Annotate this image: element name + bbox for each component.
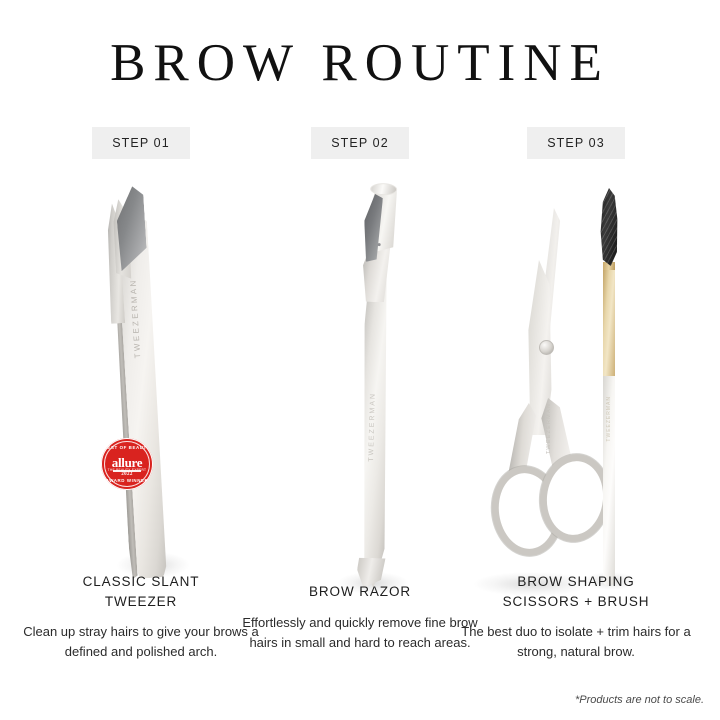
product-title-1-line1: CLASSIC SLANT <box>21 572 261 592</box>
allure-year-text: 2022 <box>101 472 153 477</box>
spoolie-brand-engraving: TWEEZERMAN <box>606 396 612 442</box>
step-column-2: STEP 02 TWEEZERMAN BROW RAZOR <box>240 120 480 690</box>
product-title-3-line1: BROW SHAPING <box>456 572 696 592</box>
scissors-brand-engraving: TWEEZERMAN <box>546 403 552 454</box>
spoolie-wood-shaft <box>603 266 615 376</box>
product-title-1: CLASSIC SLANT TWEEZER <box>21 572 261 611</box>
razor-illustration: TWEEZERMAN <box>333 179 414 591</box>
product-title-2: BROW RAZOR <box>240 582 480 602</box>
product-image-tweezer: TWEEZERMAN BEST OF BEAUTY allure THE BEA… <box>21 180 261 600</box>
product-caption-2: BROW RAZOR Effortlessly and quickly remo… <box>240 582 480 653</box>
allure-bottom-arc-text: AWARD WINNER <box>101 478 153 483</box>
step-badge-1: STEP 01 <box>92 127 190 159</box>
product-description-3: The best duo to isolate + trim hairs for… <box>456 622 696 662</box>
step-badge-2: STEP 02 <box>311 127 409 159</box>
step-badge-3: STEP 03 <box>527 127 625 159</box>
step-column-1: STEP 01 TWEEZERMAN BEST OF BEAUTY allure <box>21 120 261 690</box>
step-column-3: STEP 03 TWEEZERMAN <box>456 120 696 690</box>
razor-cap <box>370 183 397 196</box>
allure-top-arc-text: BEST OF BEAUTY <box>101 445 153 450</box>
product-image-razor: TWEEZERMAN <box>240 180 480 600</box>
allure-award-badge: BEST OF BEAUTY allure THE BEAUTY EXPERT … <box>101 438 153 490</box>
disclaimer-footnote: *Products are not to scale. <box>575 694 704 706</box>
product-description-1: Clean up stray hairs to give your brows … <box>21 622 261 662</box>
product-caption-1: CLASSIC SLANT TWEEZER Clean up stray hai… <box>21 572 261 662</box>
product-description-2: Effortlessly and quickly remove fine bro… <box>240 613 480 653</box>
product-caption-3: BROW SHAPING SCISSORS + BRUSH The best d… <box>456 572 696 662</box>
spoolie-bristle-texture <box>598 188 620 266</box>
product-title-1-line2: TWEEZER <box>21 592 261 612</box>
product-title-3-line2: SCISSORS + BRUSH <box>456 592 696 612</box>
product-image-scissors-brush: TWEEZERMAN TWEEZERMAN <box>456 180 696 600</box>
razor-pivot-dot <box>378 243 381 246</box>
steps-container: STEP 01 TWEEZERMAN BEST OF BEAUTY allure <box>0 0 720 720</box>
product-title-3: BROW SHAPING SCISSORS + BRUSH <box>456 572 696 611</box>
brow-routine-infographic: BROW ROUTINE STEP 01 TWEEZERMAN BEST <box>0 0 720 720</box>
scissors-pivot-screw <box>539 340 554 355</box>
spoolie-brush-illustration: TWEEZERMAN <box>586 188 632 588</box>
product-title-2-line1: BROW RAZOR <box>240 582 480 602</box>
tweezer-illustration: TWEEZERMAN <box>93 181 183 584</box>
